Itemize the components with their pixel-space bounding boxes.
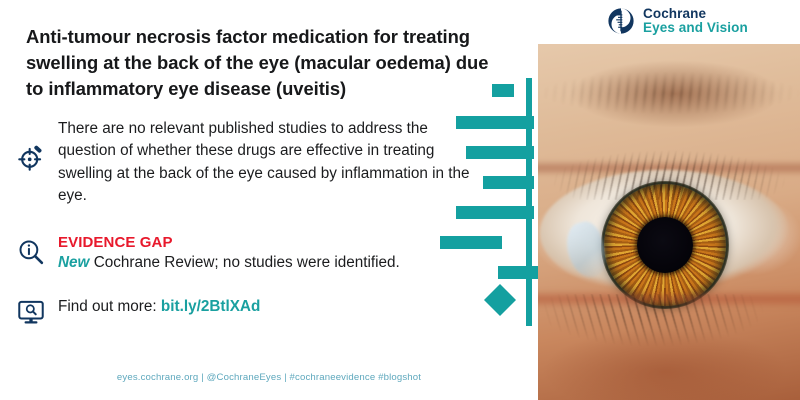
eye-photo-image [538,44,800,400]
evidence-gap-text-col: EVIDENCE GAP New Cochrane Review; no stu… [58,234,400,274]
page-title: Anti-tumour necrosis factor medication f… [26,24,506,102]
blogshot-canvas: Cochrane Eyes and Vision Anti-tumour nec… [0,0,800,400]
summary-icon-slot [14,118,48,207]
footer-text[interactable]: eyes.cochrane.org | @CochraneEyes | #coc… [117,372,421,383]
new-badge: New [58,254,89,271]
forest-row-5 [456,206,534,219]
find-out-more-text: Find out more: bit.ly/2BtlXAd [58,296,260,326]
evidence-gap-block: EVIDENCE GAP New Cochrane Review; no stu… [14,234,484,274]
find-out-more-url[interactable]: bit.ly/2BtlXAd [161,298,260,315]
lower-eyelashes [538,294,800,374]
evidence-gap-title: EVIDENCE GAP [58,234,400,251]
eye-photo-panel [538,44,800,400]
logo-line-group: Eyes and Vision [643,21,748,35]
find-out-more-block: Find out more: bit.ly/2BtlXAd [14,296,484,326]
logo-wordmark: Cochrane Eyes and Vision [643,7,748,35]
pupil [637,217,693,273]
summary-text: There are no relevant published studies … [58,118,482,207]
target-icon [17,144,45,172]
forest-summary-diamond [484,284,516,316]
evidence-gap-icon-slot [14,234,48,274]
logo-strip: Cochrane Eyes and Vision [538,0,800,44]
monitor-search-icon [17,298,45,326]
summary-block: There are no relevant published studies … [14,118,484,207]
evidence-gap-body-rest: Cochrane Review; no studies were identif… [89,254,399,271]
evidence-gap-body: New Cochrane Review; no studies were ide… [58,253,400,274]
footer: eyes.cochrane.org | @CochraneEyes | #coc… [0,372,538,383]
cochrane-logo: Cochrane Eyes and Vision [606,6,748,36]
logo-line-cochrane: Cochrane [643,7,748,21]
magnifier-info-icon [17,238,45,266]
eyebrow [538,70,800,116]
find-out-more-label: Find out more: [58,298,161,315]
upper-eyelashes [538,122,800,200]
find-out-more-icon-slot [14,296,48,326]
forest-axis-line [526,78,532,326]
forest-row-4 [483,176,534,189]
forest-row-7 [498,266,538,279]
cochrane-forest-circle-icon [606,6,636,36]
